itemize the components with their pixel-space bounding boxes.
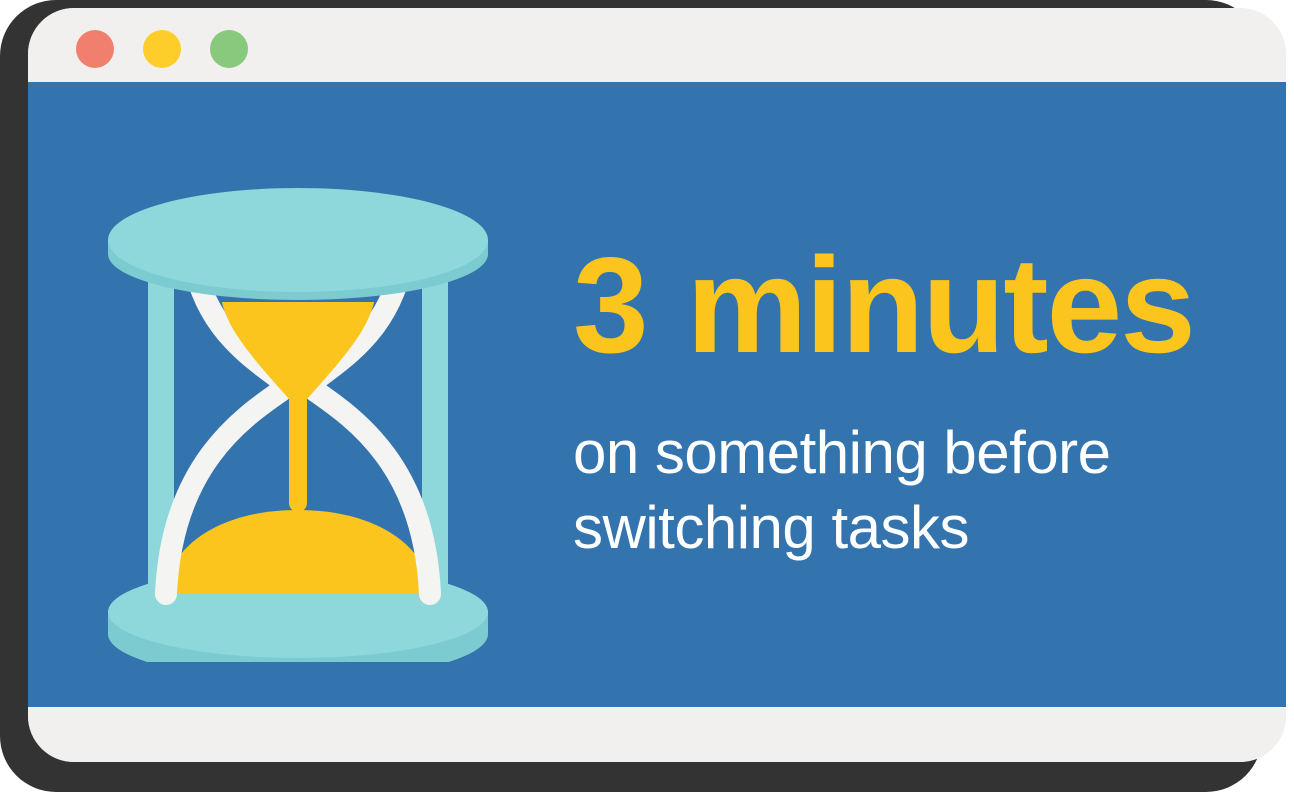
hourglass-lower-sand	[166, 510, 430, 594]
hourglass-cap-top	[108, 188, 488, 292]
hourglass-lower-sand-group	[166, 510, 430, 594]
subtext: on something before switching tasks	[573, 415, 1233, 565]
window-controls	[76, 30, 248, 68]
subtext-line-2: switching tasks	[573, 494, 969, 561]
window-titlebar	[28, 8, 1286, 82]
subtext-line-1: on something before	[573, 419, 1111, 486]
maximize-button[interactable]	[210, 30, 248, 68]
headline-number: 3	[573, 229, 651, 381]
minimize-button[interactable]	[143, 30, 181, 68]
slide-canvas: 3 minutes on something before switching …	[28, 82, 1286, 707]
screenshot-stage: 3 minutes on something before switching …	[0, 0, 1294, 792]
hourglass-illustration	[98, 142, 498, 662]
close-button[interactable]	[76, 30, 114, 68]
headline-unit: minutes	[686, 229, 1193, 381]
browser-window: 3 minutes on something before switching …	[28, 8, 1286, 762]
hourglass-sand-stream	[289, 392, 307, 512]
window-footer-strip	[28, 707, 1286, 762]
headline: 3 minutes	[573, 237, 1233, 373]
text-block: 3 minutes on something before switching …	[573, 237, 1233, 565]
